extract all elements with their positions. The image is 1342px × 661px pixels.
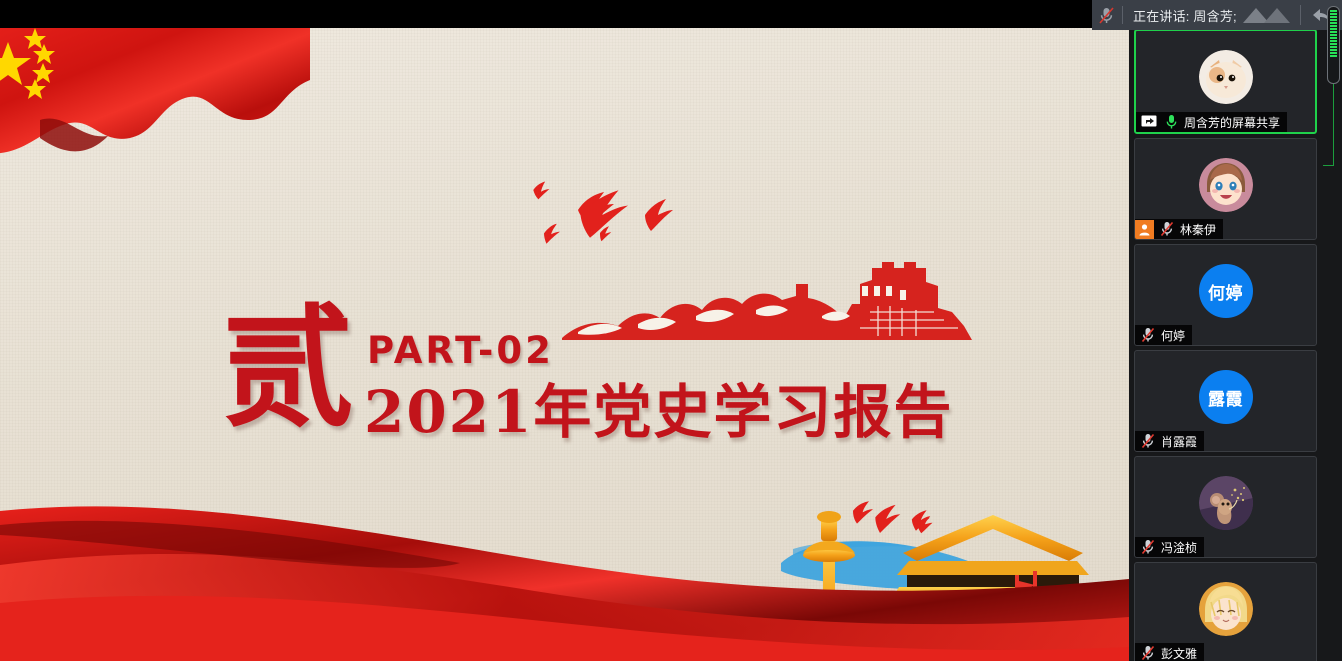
avatar (1199, 158, 1253, 212)
participant-name: 彭文雅 (1161, 645, 1197, 661)
meeting-window: 中华人民共和国万岁 世界人民大团结万岁 (0, 0, 1342, 661)
participant-name: 肖露霞 (1161, 433, 1197, 450)
china-flag-illustration (0, 28, 310, 200)
red-ribbon-illustration (0, 453, 1129, 661)
participant-namebar: 林秦伊 (1135, 219, 1223, 239)
participant-tile[interactable]: 冯淦桢 (1134, 456, 1317, 558)
mic-muted-icon (1139, 538, 1157, 556)
participant-tile[interactable]: 何婷 何婷 (1134, 244, 1317, 346)
mic-muted-icon (1158, 220, 1176, 238)
shared-screen-slide[interactable]: 中华人民共和国万岁 世界人民大团结万岁 (0, 28, 1129, 661)
page-title: 2021年党史学习报告 (364, 365, 953, 449)
participant-name: 周含芳的屏幕共享 (1184, 114, 1280, 131)
mic-muted-icon (1139, 644, 1157, 661)
participant-namebar: 彭文雅 (1135, 643, 1204, 661)
avatar: 露霞 (1199, 370, 1253, 424)
toolbar-divider-2 (1300, 5, 1301, 25)
mic-muted-icon (1139, 432, 1157, 450)
chevron-up-double-icon[interactable] (1243, 8, 1290, 23)
participant-tile[interactable]: 林秦伊 (1134, 138, 1317, 240)
slide-title-block: 贰 PART-02 2021年党史学习报告 (222, 313, 962, 458)
participant-name: 冯淦桢 (1161, 539, 1197, 556)
participant-namebar: 何婷 (1135, 325, 1192, 345)
mic-muted-icon (1139, 326, 1157, 344)
mic-muted-icon[interactable] (1092, 0, 1120, 30)
host-badge-icon (1135, 220, 1154, 239)
audio-level-meter (1327, 6, 1340, 84)
participant-name: 何婷 (1161, 327, 1185, 344)
toolbar-divider (1122, 6, 1123, 24)
participant-namebar: 肖露霞 (1135, 431, 1204, 451)
avatar (1199, 50, 1253, 104)
section-number: 贰 (222, 303, 354, 435)
participant-tile[interactable]: 彭文雅 (1134, 562, 1317, 661)
participant-name: 林秦伊 (1180, 221, 1216, 238)
avatar: 何婷 (1199, 264, 1253, 318)
audio-meter-connector-end (1323, 165, 1334, 166)
screen-share-icon (1140, 113, 1158, 131)
meeting-toolbar[interactable]: 正在讲话: 周含芳; (1092, 0, 1342, 30)
speaking-status-label: 正在讲话: 周含芳; (1125, 6, 1237, 25)
avatar (1199, 582, 1253, 636)
mic-on-icon (1162, 113, 1180, 131)
participant-rail[interactable]: 周含芳的屏幕共享 (1129, 28, 1342, 661)
avatar (1199, 476, 1253, 530)
participant-tile[interactable]: 露霞 肖露霞 (1134, 350, 1317, 452)
participant-namebar: 冯淦桢 (1135, 537, 1204, 557)
participant-tile-screenshare[interactable]: 周含芳的屏幕共享 (1134, 29, 1317, 134)
audio-meter-connector (1333, 84, 1334, 166)
participant-namebar: 周含芳的屏幕共享 (1136, 112, 1287, 132)
